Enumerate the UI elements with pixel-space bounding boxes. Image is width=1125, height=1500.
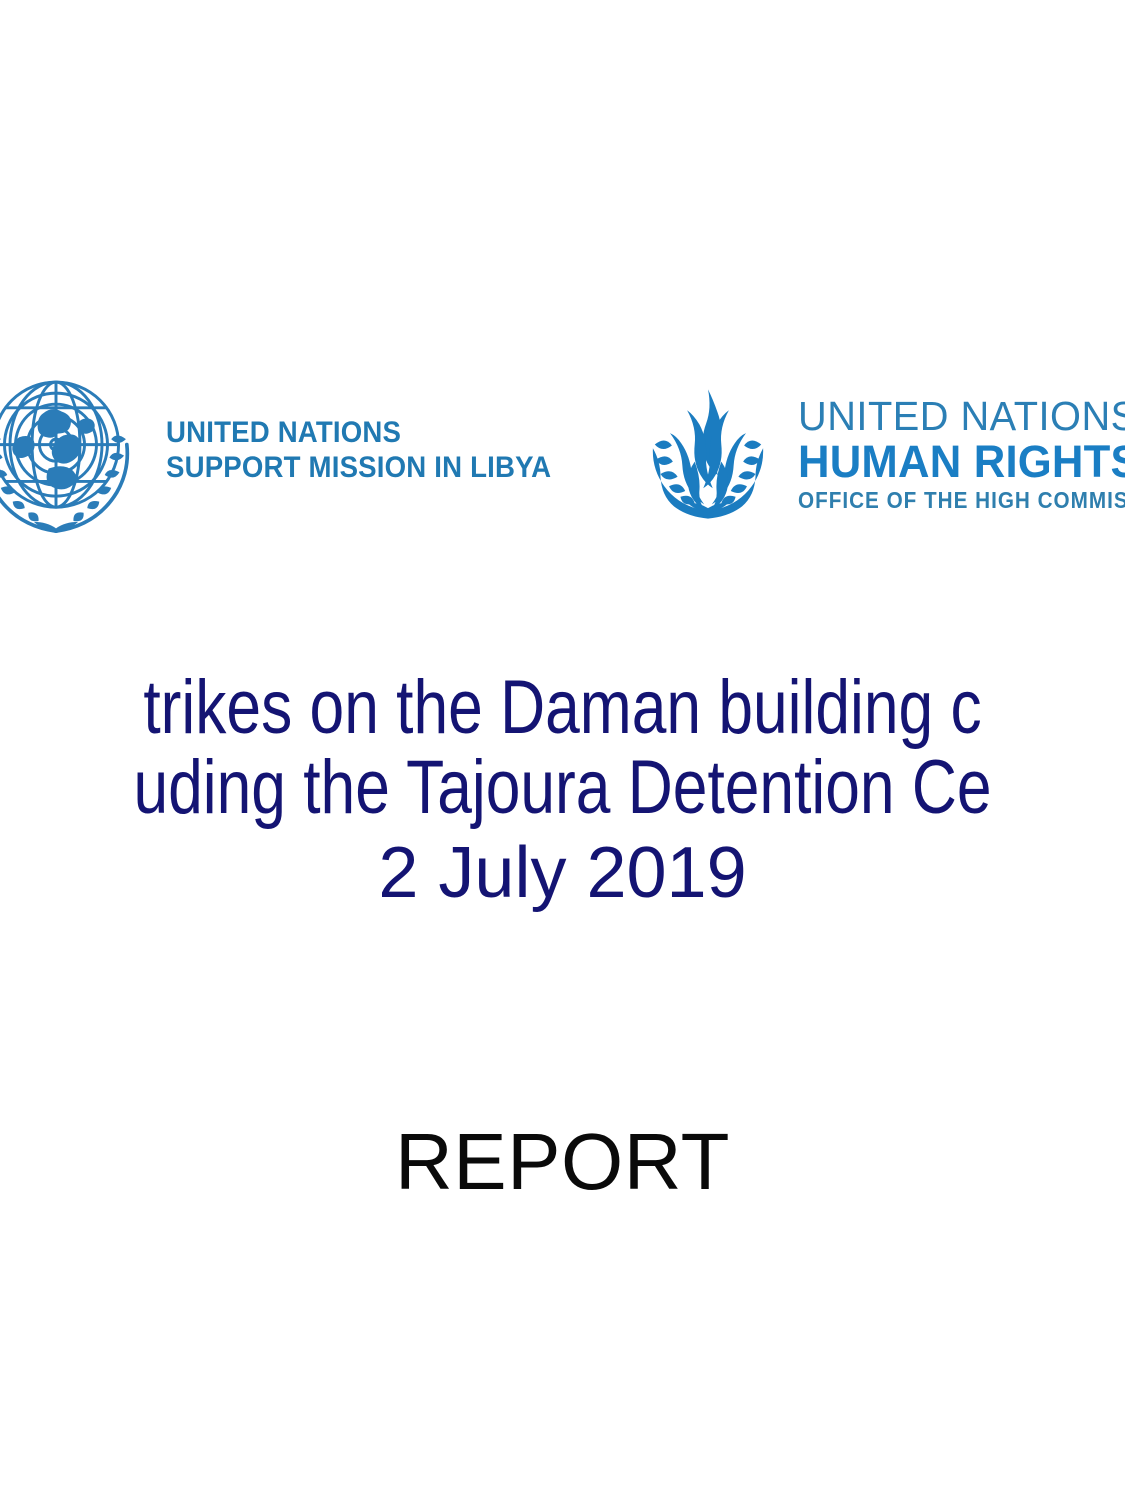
- document-title: trikes on the Daman building c uding the…: [0, 668, 1125, 916]
- ohchr-line2: HUMAN RIGHTS: [798, 439, 1125, 484]
- title-line-2: uding the Tajoura Detention Ce: [101, 748, 1024, 828]
- ohchr-flame-hand-laurel-emblem: [632, 378, 784, 530]
- report-cover-page: UNITED NATIONS SUPPORT MISSION IN LIBYA: [0, 0, 1125, 1500]
- ohchr-line3: OFFICE OF THE HIGH COMMISSIONE: [798, 489, 1125, 512]
- ohchr-wordmark: UNITED NATIONS HUMAN RIGHTS OFFICE OF TH…: [798, 396, 1125, 512]
- report-label: REPORT: [0, 1118, 1125, 1206]
- un-globe-laurel-emblem: [0, 360, 148, 544]
- ohchr-line1: UNITED NATIONS: [798, 396, 1125, 437]
- title-date: 2 July 2019: [0, 830, 1125, 916]
- logo-band: UNITED NATIONS SUPPORT MISSION IN LIBYA: [0, 352, 1125, 552]
- ohchr-logo-lockup: UNITED NATIONS HUMAN RIGHTS OFFICE OF TH…: [632, 374, 1125, 534]
- unsmil-line1: UNITED NATIONS: [166, 418, 551, 448]
- unsmil-logo-lockup: UNITED NATIONS SUPPORT MISSION IN LIBYA: [0, 352, 585, 552]
- title-line-1: trikes on the Daman building c: [101, 668, 1024, 748]
- unsmil-line2: SUPPORT MISSION IN LIBYA: [166, 453, 551, 483]
- unsmil-wordmark: UNITED NATIONS SUPPORT MISSION IN LIBYA: [166, 418, 585, 487]
